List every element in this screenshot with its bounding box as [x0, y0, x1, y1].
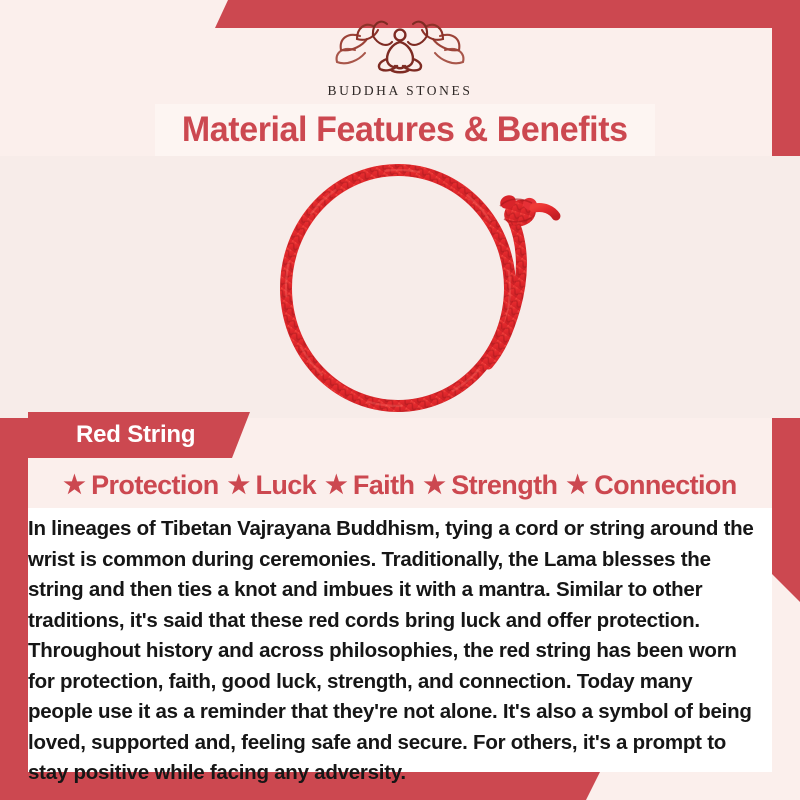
star-icon: ★ — [566, 473, 588, 498]
benefit-label: Protection — [91, 470, 219, 501]
lotus-meditation-icon — [325, 12, 475, 80]
description-panel: In lineages of Tibetan Vajrayana Buddhis… — [28, 508, 772, 772]
brand-name: BUDDHA STONES — [328, 83, 473, 99]
page-title: Material Features & Benefits — [182, 110, 628, 150]
red-braided-string-bracelet-icon — [0, 156, 800, 418]
benefit-item-protection: ★ Protection — [63, 470, 218, 501]
star-icon: ★ — [63, 473, 85, 498]
benefit-item-luck: ★ Luck — [228, 470, 316, 501]
brand-logo: BUDDHA STONES — [0, 12, 800, 99]
benefit-item-faith: ★ Faith — [325, 470, 414, 501]
description-text: In lineages of Tibetan Vajrayana Buddhis… — [28, 514, 760, 789]
star-icon: ★ — [228, 473, 250, 498]
benefit-label: Luck — [255, 470, 316, 501]
star-icon: ★ — [423, 473, 445, 498]
benefit-label: Connection — [594, 470, 737, 501]
ribbon-label: Red String — [28, 421, 195, 449]
benefit-item-strength: ★ Strength — [423, 470, 557, 501]
benefit-item-connection: ★ Connection — [566, 470, 736, 501]
section-ribbon-red-string: Red String — [28, 412, 250, 458]
benefit-label: Strength — [451, 470, 557, 501]
poster-root: BUDDHA STONES Material Features & Benefi… — [0, 0, 800, 800]
title-band: Material Features & Benefits — [155, 104, 655, 156]
benefits-list: ★ Protection ★ Luck ★ Faith ★ Strength ★… — [28, 462, 772, 508]
hero-image-band — [0, 156, 800, 418]
benefit-label: Faith — [353, 470, 415, 501]
star-icon: ★ — [325, 473, 347, 498]
